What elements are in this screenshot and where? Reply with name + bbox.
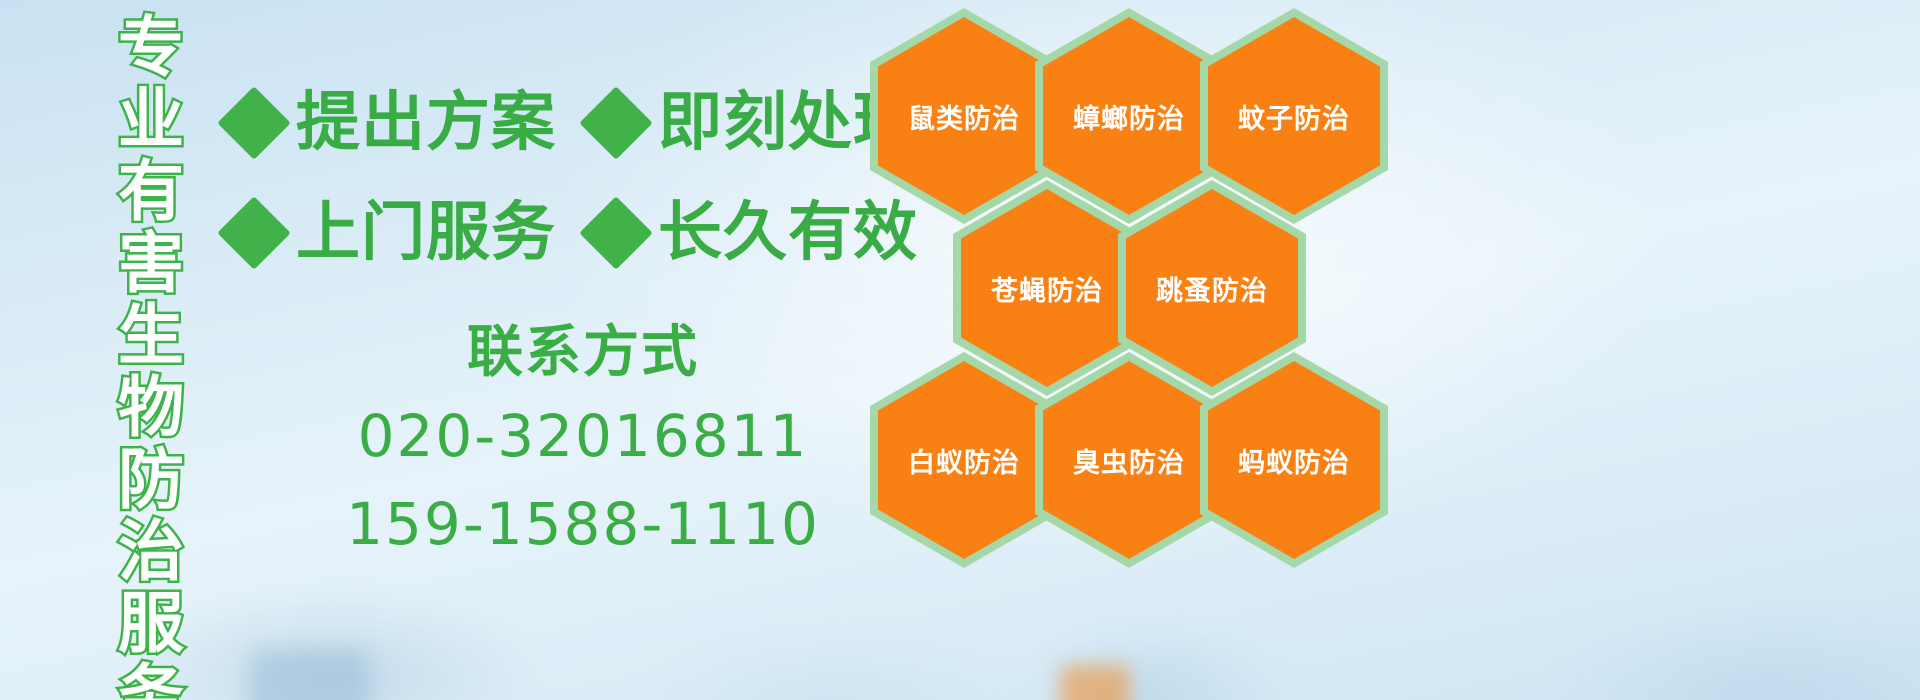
headline-char-8: 服 xyxy=(118,588,184,660)
headline-char-6: 防 xyxy=(118,444,184,516)
service-hex-label: 鼠类防治 xyxy=(908,97,1020,136)
contact-block: 联系方式 020-32016811 159-1588-1110 xyxy=(318,318,848,564)
diamond-bullet-icon xyxy=(217,86,291,160)
service-hex-label: 蚂蚁防治 xyxy=(1238,441,1350,480)
contact-phone-landline[interactable]: 020-32016811 xyxy=(318,396,848,476)
headline-char-2: 有 xyxy=(118,156,184,228)
diamond-bullet-icon xyxy=(579,196,653,270)
service-hex-label: 臭虫防治 xyxy=(1073,441,1185,480)
headline-char-1: 业 xyxy=(118,84,184,156)
headline-char-7: 治 xyxy=(118,516,184,588)
service-hex-label: 蟑螂防治 xyxy=(1073,97,1185,136)
service-hex-label: 苍蝇防治 xyxy=(991,269,1103,308)
headline-char-3: 害 xyxy=(118,228,184,300)
service-honeycomb: 鼠类防治 蟑螂防治 蚊子防治 苍蝇防治 跳蚤防治 白蚁防治 臭虫防治 蚂蚁防治 xyxy=(860,0,1460,700)
service-hex-label: 白蚁防治 xyxy=(908,441,1020,480)
diamond-bullet-icon xyxy=(579,86,653,160)
headline-char-9: 务 xyxy=(118,660,184,700)
vertical-headline: 专 业 有 害 生 物 防 治 服 务 xyxy=(103,12,199,660)
feature-row-2: 上门服务 长久有效 xyxy=(228,196,918,270)
pest-control-banner: 专 业 有 害 生 物 防 治 服 务 提出方案 即刻处理 上门服务 长久有效 … xyxy=(0,0,1920,700)
feature-label-onsite-service: 上门服务 xyxy=(296,196,556,270)
headline-char-0: 专 xyxy=(118,12,184,84)
headline-char-4: 生 xyxy=(118,300,184,372)
headline-char-5: 物 xyxy=(118,372,184,444)
service-hex-label: 跳蚤防治 xyxy=(1156,269,1268,308)
service-hex-label: 蚊子防治 xyxy=(1238,97,1350,136)
contact-phone-mobile[interactable]: 159-1588-1110 xyxy=(318,484,848,564)
contact-title: 联系方式 xyxy=(318,318,848,388)
feature-row-1: 提出方案 即刻处理 xyxy=(228,86,918,160)
feature-label-propose-plan: 提出方案 xyxy=(296,86,556,160)
diamond-bullet-icon xyxy=(217,196,291,270)
